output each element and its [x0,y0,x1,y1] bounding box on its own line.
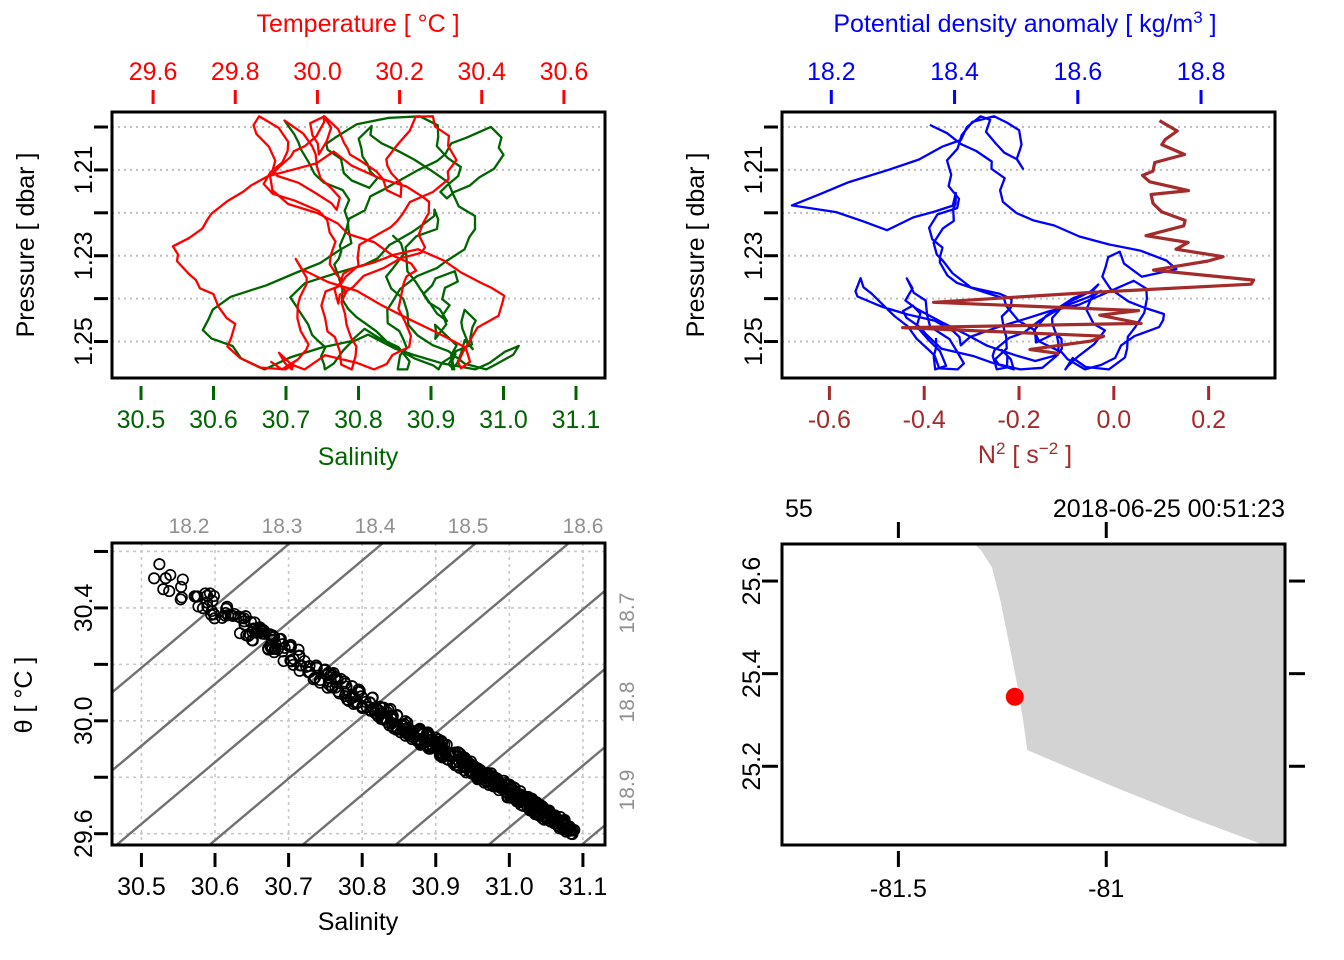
svg-text:18.5: 18.5 [448,515,489,538]
svg-text:-0.2: -0.2 [997,406,1040,434]
plot-frame [782,112,1275,378]
svg-text:18.8: 18.8 [1177,58,1226,86]
salinity-tick-marks [141,853,582,867]
svg-text:31.1: 31.1 [559,873,608,901]
svg-text:25.4: 25.4 [738,649,766,698]
salinity-axis-title: Salinity [318,908,399,936]
svg-text:1.23: 1.23 [740,231,768,280]
latitude-tick-labels: 25.625.425.2 [738,557,766,791]
svg-text:1.21: 1.21 [70,146,98,195]
svg-text:18.3: 18.3 [262,515,303,538]
svg-text:30.5: 30.5 [117,873,166,901]
svg-text:30.0: 30.0 [70,696,98,745]
ts-data-points [149,559,580,839]
theta-axis-title: θ [ °C ] [10,657,38,734]
svg-text:30.6: 30.6 [540,58,589,86]
density-data-lines [792,116,1254,369]
svg-text:18.4: 18.4 [355,515,396,538]
svg-text:18.6: 18.6 [563,515,604,538]
svg-text:0.0: 0.0 [1096,406,1131,434]
svg-text:18.7: 18.7 [616,593,639,634]
profile-svg: Temperature [ °C ] 29.629.830.030.230.43… [0,0,672,480]
density-tick-marks [831,90,1201,104]
svg-text:18.6: 18.6 [1053,58,1102,86]
svg-text:30.9: 30.9 [407,406,456,434]
isopycnal-right-labels: 18.718.818.9 [616,593,639,811]
theta-tick-labels: 30.430.029.6 [70,583,98,858]
pressure-tick-labels: 1.211.231.25 [70,146,98,366]
svg-text:30.7: 30.7 [264,873,313,901]
isopycnal-top-labels: 18.218.318.418.518.6 [169,515,604,538]
svg-text:1.25: 1.25 [740,317,768,366]
svg-text:31.0: 31.0 [479,406,528,434]
temperature-axis-title: Temperature [ °C ] [256,10,459,38]
svg-text:30.6: 30.6 [189,406,238,434]
svg-text:30.9: 30.9 [411,873,460,901]
svg-text:31.0: 31.0 [485,873,534,901]
temperature-tick-marks [153,90,564,104]
svg-text:-0.4: -0.4 [903,406,946,434]
station-marker[interactable] [1006,688,1024,706]
station-number-label: 55 [785,495,813,523]
svg-text:18.9: 18.9 [616,770,639,811]
salinity-tick-marks [141,386,576,400]
salinity-axis-title: Salinity [318,443,399,471]
n2-tick-labels: -0.6-0.4-0.20.00.2 [808,406,1226,434]
pressure-axis-title: Pressure [ dbar ] [12,153,40,338]
svg-text:29.8: 29.8 [211,58,260,86]
svg-text:30.4: 30.4 [457,58,506,86]
panel-station-map: 55 2018-06-25 00:51:23 25.625.425.2 -81.… [672,480,1344,960]
longitude-tick-marks [898,851,1106,867]
svg-text:-0.6: -0.6 [808,406,851,434]
map-svg: 55 2018-06-25 00:51:23 25.625.425.2 -81.… [672,480,1344,960]
density-axis-title: Potential density anomaly [ kg/m3 ] [833,8,1216,38]
map-top-tick-marks [898,522,1106,538]
n2-tick-marks [829,386,1208,400]
longitude-tick-labels: -81.5-81 [870,875,1124,903]
panel-temperature-salinity-profile: Temperature [ °C ] 29.629.830.030.230.43… [0,0,672,480]
svg-text:30.4: 30.4 [70,583,98,632]
density-tick-labels: 18.218.418.618.8 [807,58,1225,86]
svg-text:29.6: 29.6 [129,58,178,86]
svg-text:-81: -81 [1088,875,1124,903]
panel-density-n2-profile: Potential density anomaly [ kg/m3 ] 18.2… [672,0,1344,480]
density-svg: Potential density anomaly [ kg/m3 ] 18.2… [672,0,1344,480]
figure-root: Temperature [ °C ] 29.629.830.030.230.43… [0,0,1344,960]
svg-text:30.8: 30.8 [338,873,387,901]
profile-data-lines [173,116,519,369]
temperature-tick-labels: 29.629.830.030.230.430.6 [129,58,589,86]
svg-text:1.25: 1.25 [70,317,98,366]
plot-gridlines [782,127,1275,342]
panel-ts-diagram: 18.218.318.418.518.6 18.718.818.9 30.430… [0,480,672,960]
station-time-label: 2018-06-25 00:51:23 [1053,495,1285,523]
pressure-tick-labels: 1.211.231.25 [740,146,768,366]
svg-text:30.6: 30.6 [191,873,240,901]
svg-text:30.5: 30.5 [117,406,166,434]
svg-text:1.21: 1.21 [740,146,768,195]
salinity-tick-labels: 30.530.630.730.830.931.031.1 [117,406,601,434]
svg-text:0.2: 0.2 [1191,406,1226,434]
svg-text:25.2: 25.2 [738,742,766,791]
ts-svg: 18.218.318.418.518.6 18.718.818.9 30.430… [0,480,672,960]
svg-text:29.6: 29.6 [70,809,98,858]
svg-text:25.6: 25.6 [738,557,766,606]
svg-text:-81.5: -81.5 [870,875,927,903]
svg-text:30.0: 30.0 [293,58,342,86]
svg-text:1.23: 1.23 [70,231,98,280]
latitude-right-tick-marks [1289,581,1305,766]
svg-text:31.1: 31.1 [552,406,601,434]
svg-text:18.4: 18.4 [930,58,979,86]
svg-text:18.8: 18.8 [616,682,639,723]
svg-text:18.2: 18.2 [169,515,210,538]
svg-text:30.8: 30.8 [334,406,383,434]
n2-axis-title: N2 [ s−2 ] [978,439,1072,469]
svg-text:18.2: 18.2 [807,58,856,86]
pressure-axis-title: Pressure [ dbar ] [682,153,710,338]
svg-text:30.2: 30.2 [375,58,424,86]
salinity-tick-labels: 30.530.630.730.830.931.031.1 [117,873,607,901]
svg-text:30.7: 30.7 [262,406,311,434]
